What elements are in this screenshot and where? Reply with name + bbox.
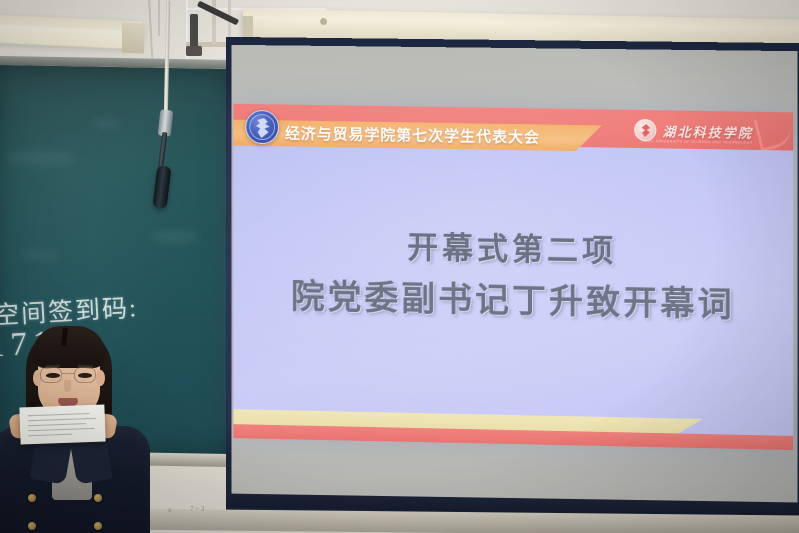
coat-button <box>28 522 36 530</box>
paper-text-line <box>28 428 94 431</box>
wall-scuff-mark: 7 ~ 3 <box>190 505 204 513</box>
university-mark-icon <box>634 119 656 141</box>
slide-title-line2: 院党委副书记丁升致开幕词 <box>233 268 793 327</box>
conference-dove-emblem <box>245 110 279 144</box>
presentation-slide: 经济与贸易学院第七次学生代表大会 湖北科技学院 HUBEI UNIVERSITY… <box>233 104 793 450</box>
university-name: 湖北科技学院 <box>662 121 753 141</box>
classroom-scene: 空间签到码: 1715 经济与贸易学院第七次学生代表大会 湖北科技学院 HUBE… <box>0 0 799 533</box>
wall-scuff-mark: x <box>168 506 172 514</box>
ear-right <box>96 370 105 386</box>
projector-screen-roller-knob <box>320 18 327 25</box>
slide-title-block: 开幕式第二项 院党委副书记丁升致开幕词 <box>233 219 793 327</box>
glasses-bridge <box>62 373 74 374</box>
paper-text-line <box>28 423 86 426</box>
coat-button <box>94 522 102 530</box>
chalk-smudge <box>150 230 200 244</box>
fluorescent-lamp-endcap <box>122 23 144 54</box>
chalk-smudge <box>92 118 122 128</box>
chalk-smudge <box>20 250 60 260</box>
paper-text-line <box>28 418 96 422</box>
speech-paper <box>19 405 105 445</box>
slide-title-line1: 开幕式第二项 <box>233 219 793 274</box>
paper-text-line <box>28 434 72 437</box>
screen-bracket-plate <box>186 46 202 56</box>
lamp-power-cord-secondary <box>158 0 160 36</box>
hair-front <box>32 326 106 368</box>
glasses-lens-left <box>40 367 62 383</box>
presenter <box>0 318 155 533</box>
nose <box>64 380 71 392</box>
conference-title: 经济与贸易学院第七次学生代表大会 <box>285 122 540 150</box>
coat-button <box>94 494 102 502</box>
coat-button <box>28 494 36 502</box>
glasses-lens-right <box>74 367 96 383</box>
paper-text-line <box>28 413 90 416</box>
chalk-smudge <box>6 150 76 166</box>
